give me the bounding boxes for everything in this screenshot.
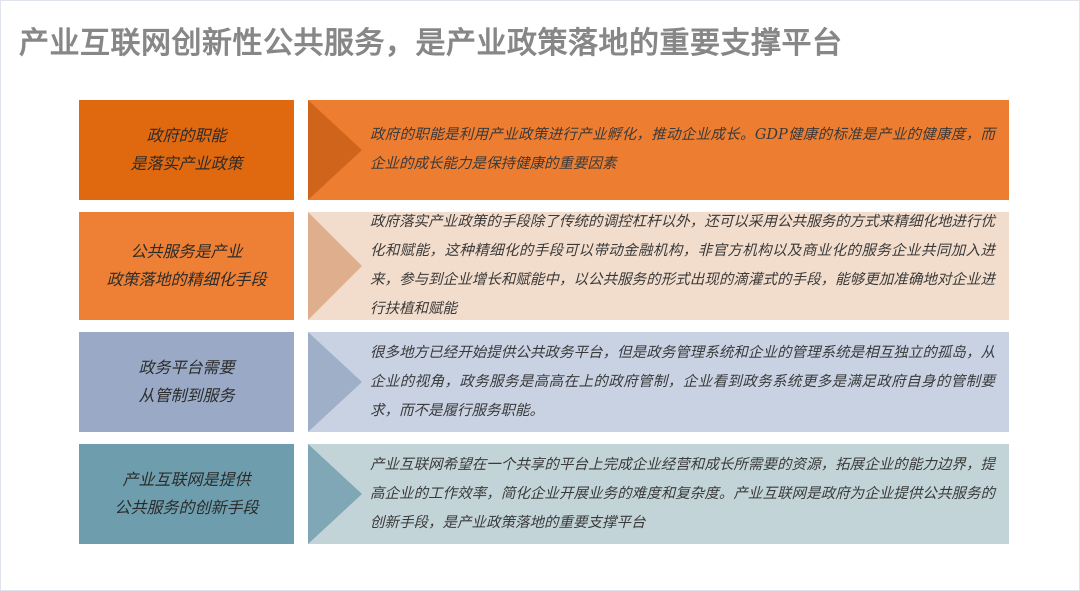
row-label-box[interactable]: 公共服务是产业 政策落地的精细化手段 — [79, 212, 294, 320]
page-title: 产业互联网创新性公共服务，是产业政策落地的重要支撑平台 — [19, 18, 843, 62]
content-row: 政府的职能 是落实产业政策 政府的职能是利用产业政策进行产业孵化，推动企业成长。… — [79, 100, 1009, 200]
arrow-right-icon — [308, 332, 362, 432]
row-body-text: 政府的职能是利用产业政策进行产业孵化，推动企业成长。GDP健康的标准是产业的健康… — [370, 121, 995, 179]
arrow-triangle — [308, 444, 362, 544]
row-label-text: 产业互联网是提供 公共服务的创新手段 — [114, 466, 258, 522]
content-row: 产业互联网是提供 公共服务的创新手段 产业互联网希望在一个共享的平台上完成企业经… — [79, 444, 1009, 544]
row-divider-gap — [294, 444, 308, 544]
slide-canvas: 产业互联网创新性公共服务，是产业政策落地的重要支撑平台 政府的职能 是落实产业政… — [0, 0, 1080, 591]
content-rows: 政府的职能 是落实产业政策 政府的职能是利用产业政策进行产业孵化，推动企业成长。… — [79, 100, 1009, 544]
row-label-text: 政务平台需要 从管制到服务 — [138, 354, 234, 410]
row-divider-gap — [294, 100, 308, 200]
row-label-box[interactable]: 政府的职能 是落实产业政策 — [79, 100, 294, 200]
arrow-right-icon — [308, 100, 362, 200]
row-body-text: 政府落实产业政策的手段除了传统的调控杠杆以外，还可以采用公共服务的方式来精细化地… — [370, 212, 995, 320]
row-body-panel[interactable]: 政府的职能是利用产业政策进行产业孵化，推动企业成长。GDP健康的标准是产业的健康… — [308, 100, 1009, 200]
row-divider-gap — [294, 212, 308, 320]
arrow-triangle — [308, 212, 362, 320]
row-body-panel[interactable]: 产业互联网希望在一个共享的平台上完成企业经营和成长所需要的资源，拓展企业的能力边… — [308, 444, 1009, 544]
content-row: 公共服务是产业 政策落地的精细化手段 政府落实产业政策的手段除了传统的调控杠杆以… — [79, 212, 1009, 320]
row-label-text: 公共服务是产业 政策落地的精细化手段 — [106, 238, 266, 294]
arrow-triangle — [308, 332, 362, 432]
row-label-text: 政府的职能 是落实产业政策 — [130, 122, 242, 178]
row-body-text: 很多地方已经开始提供公共政务平台，但是政务管理系统和企业的管理系统是相互独立的孤… — [370, 339, 995, 426]
content-row: 政务平台需要 从管制到服务 很多地方已经开始提供公共政务平台，但是政务管理系统和… — [79, 332, 1009, 432]
row-body-panel[interactable]: 政府落实产业政策的手段除了传统的调控杠杆以外，还可以采用公共服务的方式来精细化地… — [308, 212, 1009, 320]
row-body-panel[interactable]: 很多地方已经开始提供公共政务平台，但是政务管理系统和企业的管理系统是相互独立的孤… — [308, 332, 1009, 432]
row-body-text: 产业互联网希望在一个共享的平台上完成企业经营和成长所需要的资源，拓展企业的能力边… — [370, 451, 995, 538]
row-divider-gap — [294, 332, 308, 432]
row-label-box[interactable]: 产业互联网是提供 公共服务的创新手段 — [79, 444, 294, 544]
row-label-box[interactable]: 政务平台需要 从管制到服务 — [79, 332, 294, 432]
arrow-right-icon — [308, 212, 362, 320]
arrow-triangle — [308, 100, 362, 200]
arrow-right-icon — [308, 444, 362, 544]
